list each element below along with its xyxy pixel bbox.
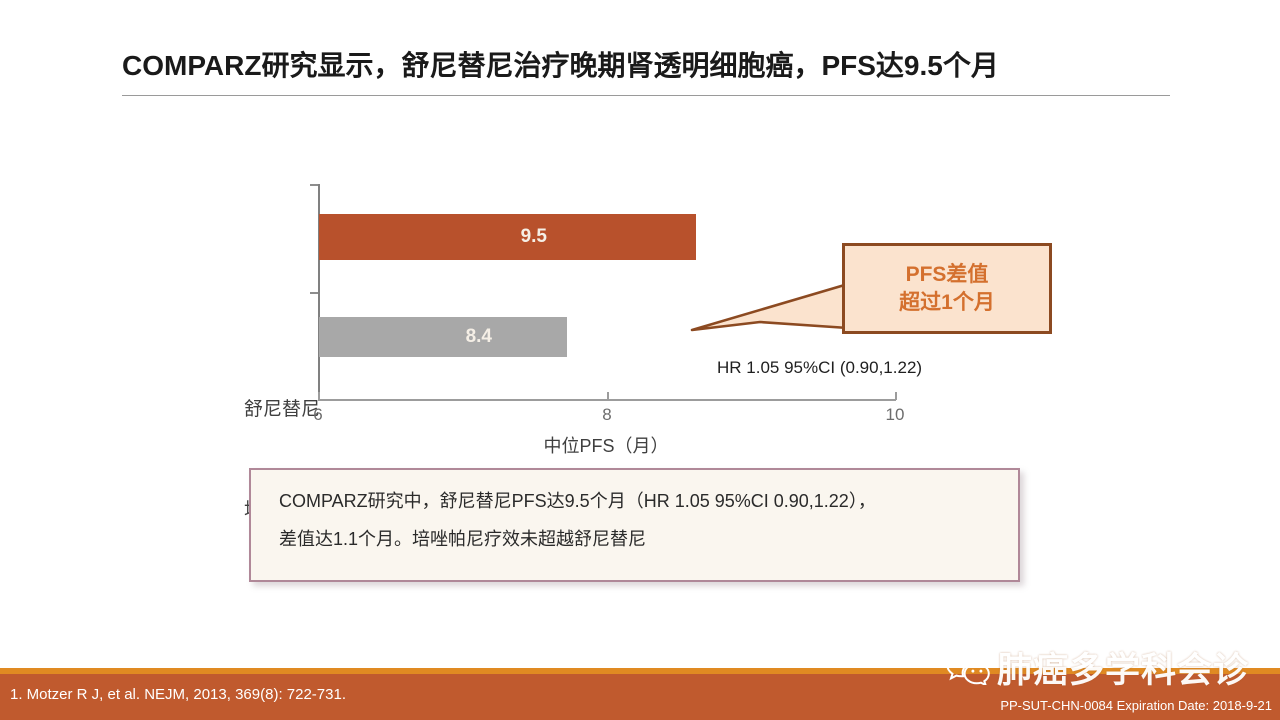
watermark-text: 肺癌多学科会诊	[997, 642, 1249, 693]
x-axis-tick-6	[318, 392, 320, 400]
callout-line-2: 超过1个月	[899, 289, 995, 317]
footer-reference-citation: 1. Motzer R J, et al. NEJM, 2013, 369(8)…	[10, 686, 346, 703]
page-title: COMPARZ研究显示，舒尼替尼治疗晚期肾透明细胞癌，PFS达9.5个月	[122, 48, 1170, 83]
x-axis-label-10: 10	[875, 405, 915, 425]
wechat-icon	[945, 651, 991, 685]
page-title-block: COMPARZ研究显示，舒尼替尼治疗晚期肾透明细胞癌，PFS达9.5个月	[122, 48, 1170, 83]
bar-pazopanib: 8.4	[319, 317, 567, 357]
x-axis-tick-10	[895, 392, 897, 400]
pfs-difference-callout: PFS差值 超过1个月	[842, 243, 1052, 334]
bar-value-sunitinib: 9.5	[521, 226, 547, 248]
y-axis-tick-middle	[310, 292, 318, 294]
callout-line-1: PFS差值	[906, 261, 989, 289]
bar-value-pazopanib: 8.4	[466, 326, 492, 348]
y-axis-tick-top	[310, 184, 318, 186]
x-axis-title: 中位PFS（月）	[456, 432, 756, 458]
x-axis-label-6: 6	[298, 405, 338, 425]
x-axis-tick-8	[607, 392, 609, 400]
bar-sunitinib: 9.5	[319, 214, 696, 260]
approval-code-text: PP-SUT-CHN-0084 Expiration Date: 2018-9-…	[1000, 698, 1272, 713]
summary-line-2: 差值达1.1个月。培唑帕尼疗效未超越舒尼替尼	[279, 530, 990, 548]
title-divider	[122, 95, 1170, 96]
wechat-watermark: 肺癌多学科会诊	[945, 642, 1249, 693]
slide-canvas: COMPARZ研究显示，舒尼替尼治疗晚期肾透明细胞癌，PFS达9.5个月 舒尼替…	[0, 0, 1280, 720]
hr-annotation: HR 1.05 95%CI (0.90,1.22)	[717, 358, 922, 378]
summary-line-1: COMPARZ研究中，舒尼替尼PFS达9.5个月（HR 1.05 95%CI 0…	[279, 492, 990, 510]
x-axis-label-8: 8	[587, 405, 627, 425]
summary-conclusion-box: COMPARZ研究中，舒尼替尼PFS达9.5个月（HR 1.05 95%CI 0…	[249, 468, 1020, 582]
callout-pointer-icon	[690, 278, 850, 336]
